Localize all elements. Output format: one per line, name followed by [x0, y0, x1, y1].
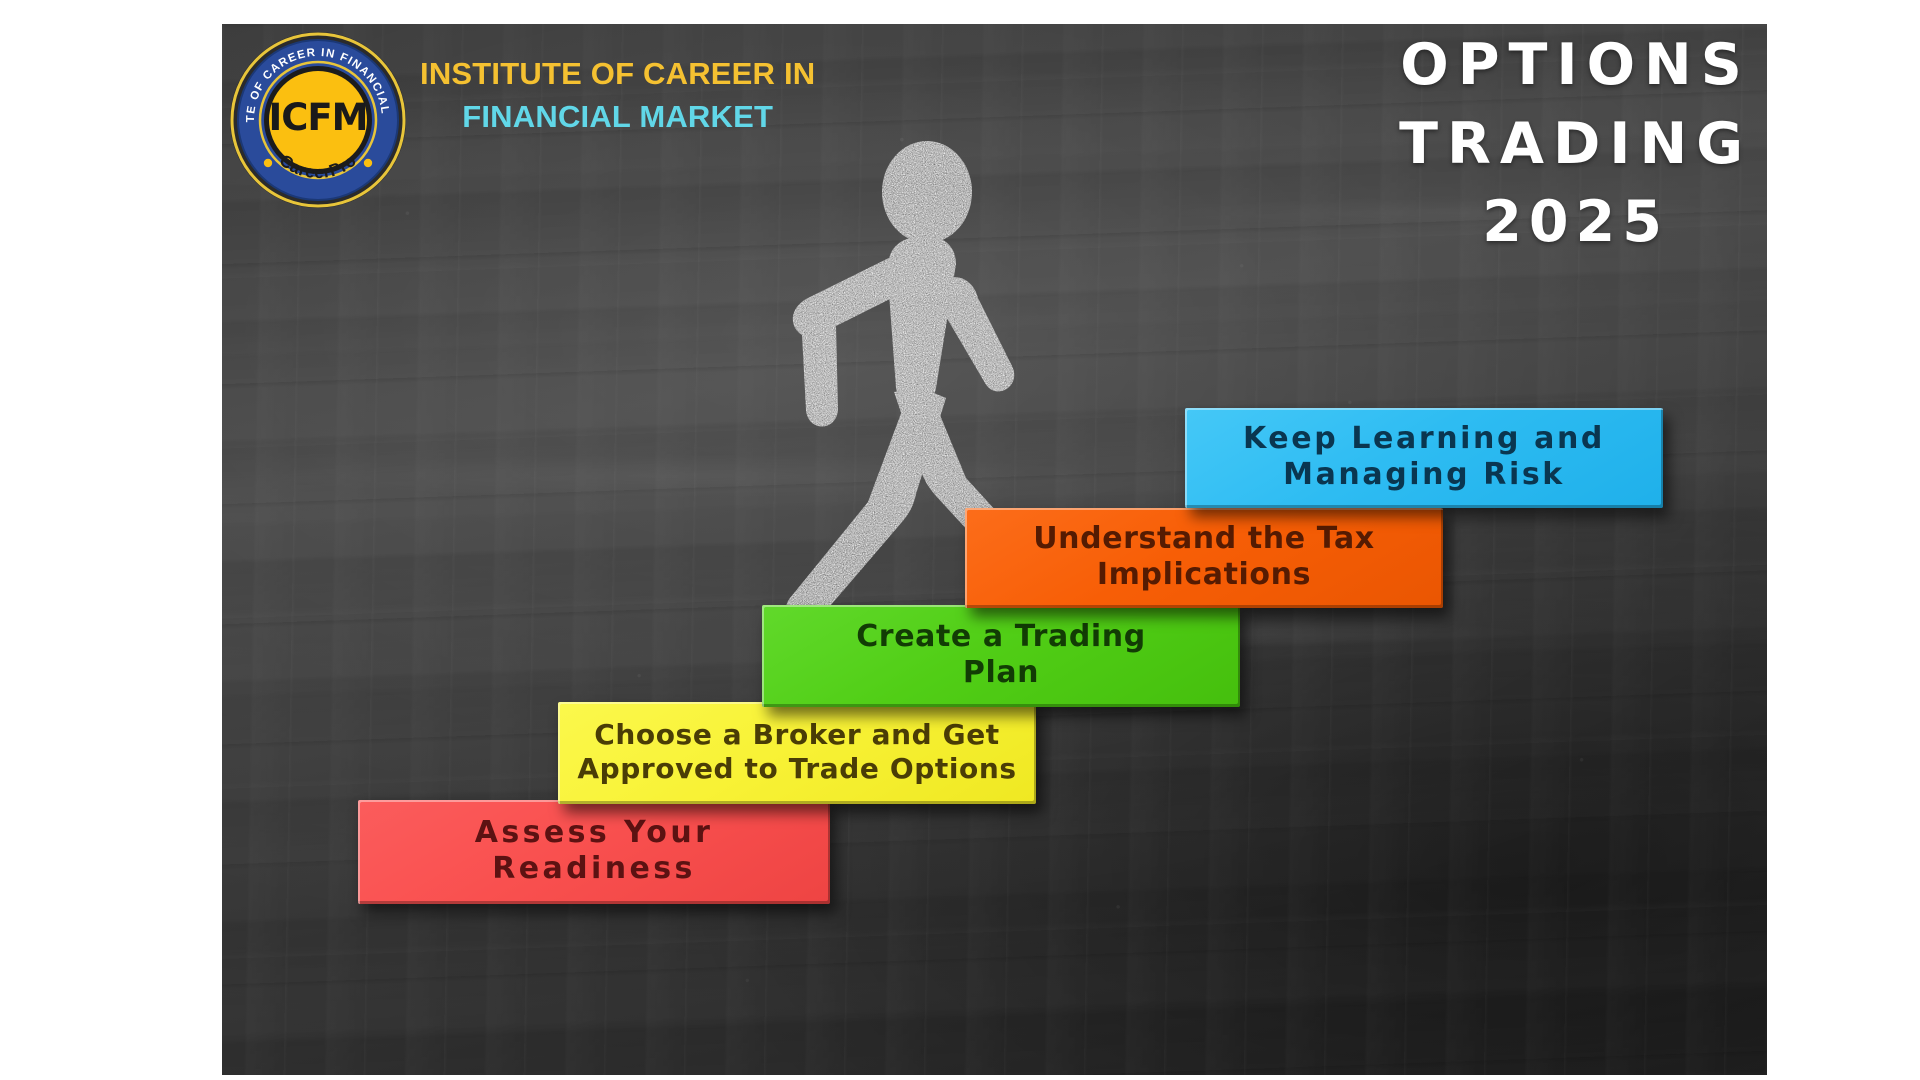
step-1-line-1: Assess Your [475, 815, 714, 850]
icfm-seal-logo-icon: INSTITUTE OF CAREER IN FINANCIAL MARKET … [228, 30, 408, 210]
step-assess-your-readiness[interactable]: Assess Your Readiness [358, 800, 830, 904]
step-2-line-2: Approved to Trade Options [577, 752, 1016, 785]
step-4-line-1: Understand the Tax [1033, 521, 1375, 556]
step-3-line-1: Create a Trading [856, 619, 1146, 654]
step-5-line-2: Managing Risk [1283, 457, 1565, 492]
brand-line-2: FINANCIAL MARKET [420, 99, 815, 136]
step-understand-the-tax-implications[interactable]: Understand the Tax Implications [965, 508, 1443, 608]
svg-text:ICFM: ICFM [268, 96, 367, 139]
step-choose-a-broker[interactable]: Choose a Broker and Get Approved to Trad… [558, 702, 1036, 804]
step-1-line-2: Readiness [492, 851, 695, 886]
step-create-a-trading-plan[interactable]: Create a Trading Plan [762, 605, 1240, 707]
title-line-year: 2025 [1399, 183, 1752, 262]
title-line-options: OPTIONS [1399, 26, 1752, 105]
brand-name: INSTITUTE OF CAREER IN FINANCIAL MARKET [420, 30, 815, 135]
slide-canvas: INSTITUTE OF CAREER IN FINANCIAL MARKET … [0, 0, 1920, 1080]
step-4-line-2: Implications [1097, 557, 1311, 592]
step-2-line-1: Choose a Broker and Get [594, 718, 1000, 751]
step-5-line-1: Keep Learning and [1243, 421, 1605, 456]
step-3-line-2: Plan [963, 655, 1039, 690]
title-line-trading: TRADING [1399, 105, 1752, 184]
step-keep-learning-and-managing-risk[interactable]: Keep Learning and Managing Risk [1185, 408, 1663, 508]
brand-line-1: INSTITUTE OF CAREER IN [420, 56, 815, 93]
page-title: OPTIONS TRADING 2025 [1399, 26, 1752, 262]
brand-header: INSTITUTE OF CAREER IN FINANCIAL MARKET … [228, 30, 815, 210]
